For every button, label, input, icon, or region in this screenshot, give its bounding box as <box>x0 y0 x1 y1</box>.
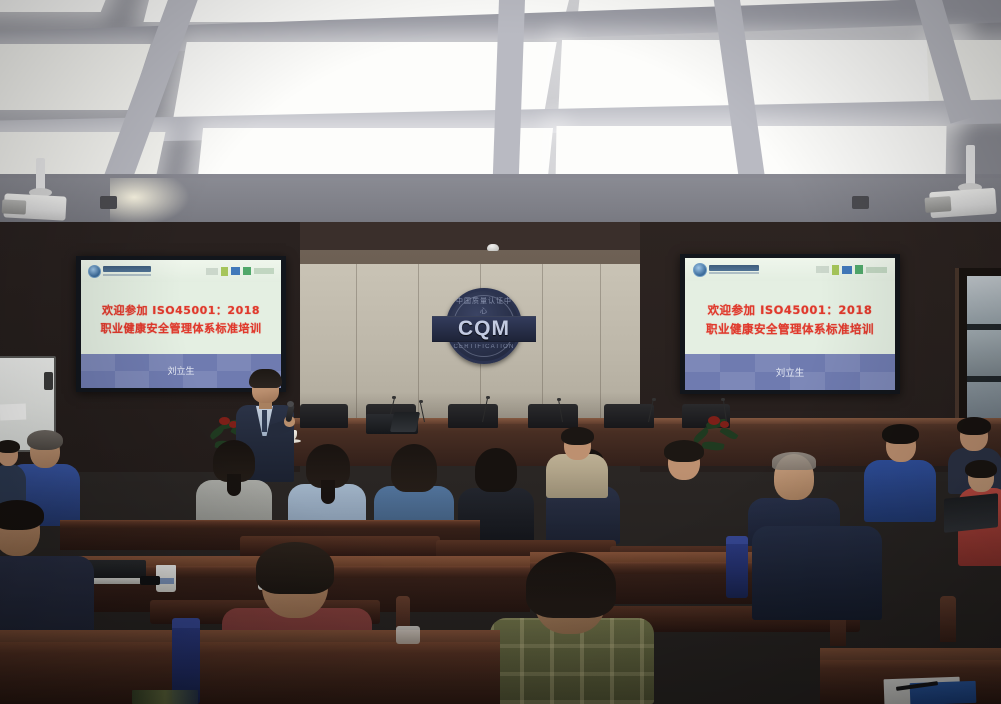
slide-right: 欢迎参加 ISO45001：2018 职业健康安全管理体系标准培训 刘立生 <box>685 258 895 390</box>
head-table-chair <box>300 404 348 428</box>
slide-title-line2: 职业健康安全管理体系标准培训 <box>81 320 281 336</box>
conference-room-photo: 中国质量认证中心 CQM CERTIFICATION <box>0 0 1001 704</box>
slide-cqm-logo-icon <box>88 265 151 278</box>
slide-footer-band: 刘立生 <box>685 354 895 390</box>
bench-armrest <box>940 596 956 642</box>
foreground-desk <box>0 642 500 704</box>
presenter-hair <box>249 369 282 388</box>
slide-title-line1: 欢迎参加 ISO45001：2018 <box>81 302 281 318</box>
head-table-chair <box>448 404 498 428</box>
cqm-emblem-subtitle: CERTIFICATION <box>446 344 522 356</box>
attendee-gray-blue <box>644 440 722 540</box>
ceiling-spotlight-left <box>100 196 117 209</box>
attendee-plaid-shirt <box>490 560 654 704</box>
slide-accreditation-marks <box>206 267 274 276</box>
cqm-emblem-mark: CQM <box>432 316 536 342</box>
laptop-screen <box>390 412 420 432</box>
ceiling-spotlight-right <box>852 196 869 209</box>
magazine <box>132 690 198 704</box>
ceiling-light-panel <box>0 44 151 110</box>
attendee-tan-jacket <box>546 428 608 498</box>
slide-title-line2: 职业健康安全管理体系标准培训 <box>685 321 895 337</box>
projection-screen-right: 欢迎参加 ISO45001：2018 职业健康安全管理体系标准培训 刘立生 <box>680 254 900 394</box>
dome-camera-icon <box>487 244 499 251</box>
head-table-chair <box>604 404 654 428</box>
cqm-wall-emblem: 中国质量认证中心 CQM CERTIFICATION <box>432 288 536 370</box>
slide-logo-bar <box>685 258 895 281</box>
ceiling-spotlight-glow <box>110 178 190 226</box>
head-table-chair <box>528 404 578 428</box>
ceiling-light-panel <box>0 0 119 12</box>
slide-logo-bar <box>81 260 281 282</box>
laptop <box>944 493 998 533</box>
slide-accreditation-marks <box>816 265 887 275</box>
attendee-navy-foreground-right <box>752 470 882 620</box>
slide-left: 欢迎参加 ISO45001：2018 职业健康安全管理体系标准培训 刘立生 <box>81 260 281 388</box>
slide-cqm-logo-icon <box>693 263 759 277</box>
attendee-far-left <box>0 442 26 504</box>
cqm-emblem-chinese: 中国质量认证中心 <box>454 296 514 310</box>
slide-presenter-name: 刘立生 <box>685 365 895 379</box>
whiteboard-marker <box>44 372 53 390</box>
phone <box>140 576 160 585</box>
slide-title-line1: 欢迎参加 ISO45001：2018 <box>685 302 895 318</box>
whiteboard-paper <box>0 404 26 421</box>
